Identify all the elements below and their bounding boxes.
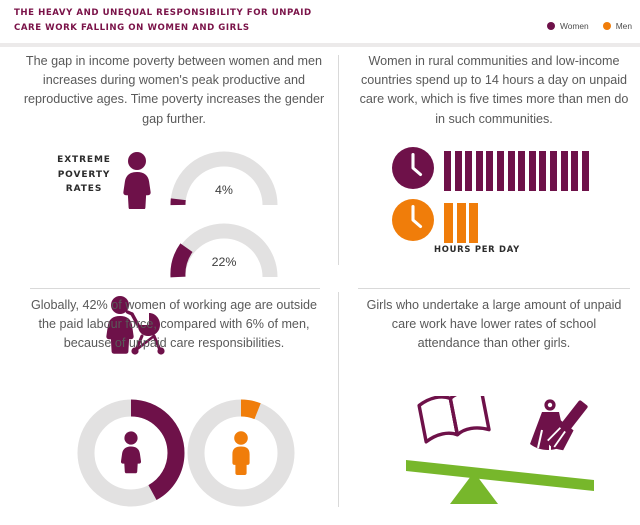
woman-icon — [76, 398, 186, 508]
panel-text-bottom-left: Globally, 42% of women of working age ar… — [14, 296, 334, 354]
bar-set-women — [444, 151, 589, 191]
vertical-divider-bottom — [338, 292, 339, 507]
donut-men-outside-labour-force — [186, 398, 296, 508]
clock-icon — [392, 147, 434, 194]
bar-set-men — [444, 203, 478, 243]
vertical-divider-top — [338, 55, 339, 265]
gauge-value-women: 4% — [162, 183, 286, 197]
gauge-row-mother: 22% — [14, 219, 334, 285]
hours-per-day-caption: HOURS PER DAY — [434, 244, 520, 254]
horizontal-divider-right — [358, 288, 630, 289]
horizontal-divider-left — [30, 288, 320, 289]
panel-text-bottom-right: Girls who undertake a large amount of un… — [348, 296, 640, 354]
gauge-women-extreme-poverty: 4% — [162, 147, 286, 209]
dot-icon — [547, 22, 555, 30]
gauge-mother-extreme-poverty: 22% — [162, 219, 286, 281]
labour-force-donut-chart — [14, 398, 334, 513]
legend-label-men: Men — [616, 21, 632, 31]
woman-icon — [118, 151, 156, 214]
hours-per-day-chart: HOURS PER DAY — [348, 143, 640, 268]
page-title: THE HEAVY AND UNEQUAL RESPONSIBILITY FOR… — [14, 6, 344, 36]
page-title-line-1: THE HEAVY AND UNEQUAL RESPONSIBILITY FOR… — [14, 6, 344, 21]
gauge-row-women: 4% — [14, 147, 334, 213]
gauge-value-mother: 22% — [162, 255, 286, 269]
clock-icon — [392, 199, 434, 246]
panel-text-top-right: Women in rural communities and low-incom… — [348, 52, 640, 129]
legend-label-women: Women — [560, 21, 589, 31]
legend: Women Men — [547, 21, 632, 31]
legend-item-women: Women — [547, 21, 589, 31]
hours-row-men — [392, 199, 478, 246]
hours-row-women — [392, 147, 589, 194]
header: THE HEAVY AND UNEQUAL RESPONSIBILITY FOR… — [0, 0, 640, 44]
man-icon — [186, 398, 296, 508]
legend-item-men: Men — [603, 21, 632, 31]
dot-icon — [603, 22, 611, 30]
seesaw-book-vs-broom — [402, 396, 602, 508]
seesaw-plank — [406, 460, 594, 491]
broom-icon — [530, 396, 594, 454]
page-title-line-2: CARE WORK FALLING ON WOMEN AND GIRLS — [14, 21, 344, 36]
header-divider — [0, 43, 640, 47]
extreme-poverty-rates-chart: EXTREME POVERTY RATES 4% — [14, 143, 334, 283]
panel-text-top-left: The gap in income poverty between women … — [14, 52, 334, 129]
open-book-icon — [418, 396, 489, 442]
donut-women-outside-labour-force — [76, 398, 186, 508]
